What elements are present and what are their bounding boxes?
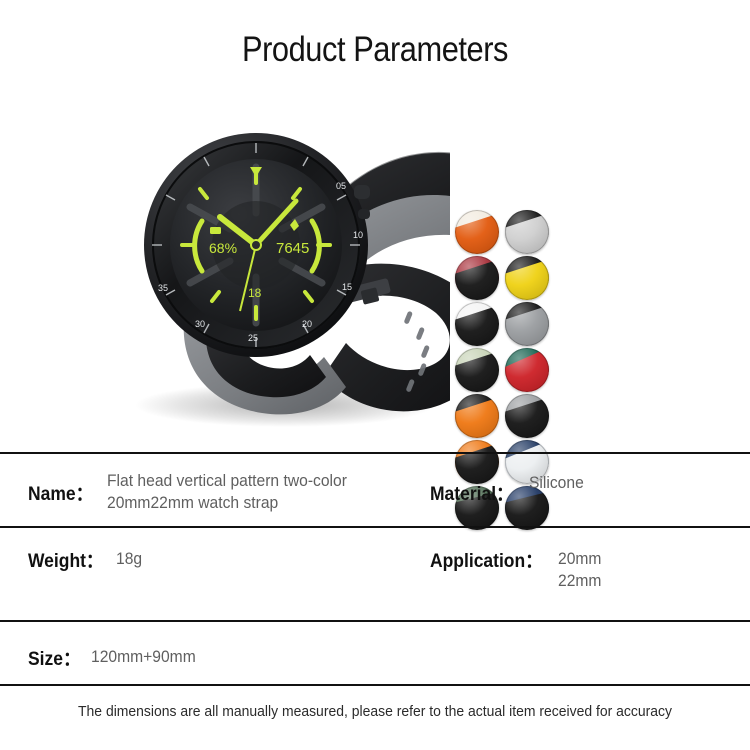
swatch-row xyxy=(455,256,560,300)
svg-text:20: 20 xyxy=(302,319,312,329)
swatch-orange-black2[interactable] xyxy=(455,394,499,438)
swatch-row xyxy=(455,302,560,346)
table-divider-bottom xyxy=(0,684,750,686)
date-complication: 18 xyxy=(248,286,262,300)
spec-row-size: Size： 120mm+90mm xyxy=(0,622,750,684)
watch-illustration: 05 10 15 20 25 30 35 xyxy=(110,105,450,435)
page-title: Product Parameters xyxy=(45,30,705,70)
svg-text:25: 25 xyxy=(248,333,258,343)
spec-cell-size: Size： 120mm+90mm xyxy=(0,644,418,671)
swatch-orange-cream[interactable] xyxy=(455,210,499,254)
spec-label-name: Name： xyxy=(28,470,93,506)
swatch-row xyxy=(455,210,560,254)
spec-cell-material: Material： Silicone xyxy=(418,470,750,506)
swatch-red-darkgreen[interactable] xyxy=(505,348,549,392)
footer-disclaimer: The dimensions are all manually measured… xyxy=(26,703,724,720)
date-value: 18 xyxy=(248,286,262,300)
spec-value-size: 120mm+90mm xyxy=(91,644,196,668)
watch-case: 05 10 15 20 25 30 35 xyxy=(144,133,370,357)
specifications-table: Name： Flat head vertical pattern two-col… xyxy=(0,452,750,686)
spec-value-application: 20mm 22mm xyxy=(558,546,601,593)
spec-label-weight: Weight： xyxy=(28,546,103,573)
swatch-darkred-black[interactable] xyxy=(455,256,499,300)
spec-label-size: Size： xyxy=(28,644,80,671)
spec-cell-weight: Weight： 18g xyxy=(0,546,418,573)
spec-row-weight: Weight： 18g Application： 20mm 22mm xyxy=(0,528,750,620)
spec-value-weight: 18g xyxy=(116,546,142,570)
battery-value: 68% xyxy=(209,240,237,256)
svg-text:15: 15 xyxy=(342,282,352,292)
steps-value: 7645 xyxy=(276,240,309,257)
swatch-black-silver[interactable] xyxy=(505,210,549,254)
spec-value-name: Flat head vertical pattern two-color 20m… xyxy=(107,470,383,515)
watch-product-image: 05 10 15 20 25 30 35 xyxy=(110,105,450,435)
svg-text:30: 30 xyxy=(195,319,205,329)
spec-value-material: Silicone xyxy=(529,470,584,494)
spec-cell-name: Name： Flat head vertical pattern two-col… xyxy=(0,470,418,515)
svg-text:10: 10 xyxy=(353,230,363,240)
swatch-gray-black2[interactable] xyxy=(505,394,549,438)
swatch-sage-black[interactable] xyxy=(455,348,499,392)
product-hero: 05 10 15 20 25 30 35 xyxy=(0,100,750,440)
spec-label-material: Material： xyxy=(430,470,514,506)
swatch-row xyxy=(455,394,560,438)
swatch-white-black[interactable] xyxy=(455,302,499,346)
spec-row-name: Name： Flat head vertical pattern two-col… xyxy=(0,454,750,526)
svg-text:35: 35 xyxy=(158,283,168,293)
swatch-yellow-black[interactable] xyxy=(505,256,549,300)
spec-cell-application: Application： 20mm 22mm xyxy=(418,546,750,593)
spec-label-application: Application： xyxy=(430,546,543,573)
svg-text:05: 05 xyxy=(336,181,346,191)
swatch-gray-black[interactable] xyxy=(505,302,549,346)
swatch-row xyxy=(455,348,560,392)
